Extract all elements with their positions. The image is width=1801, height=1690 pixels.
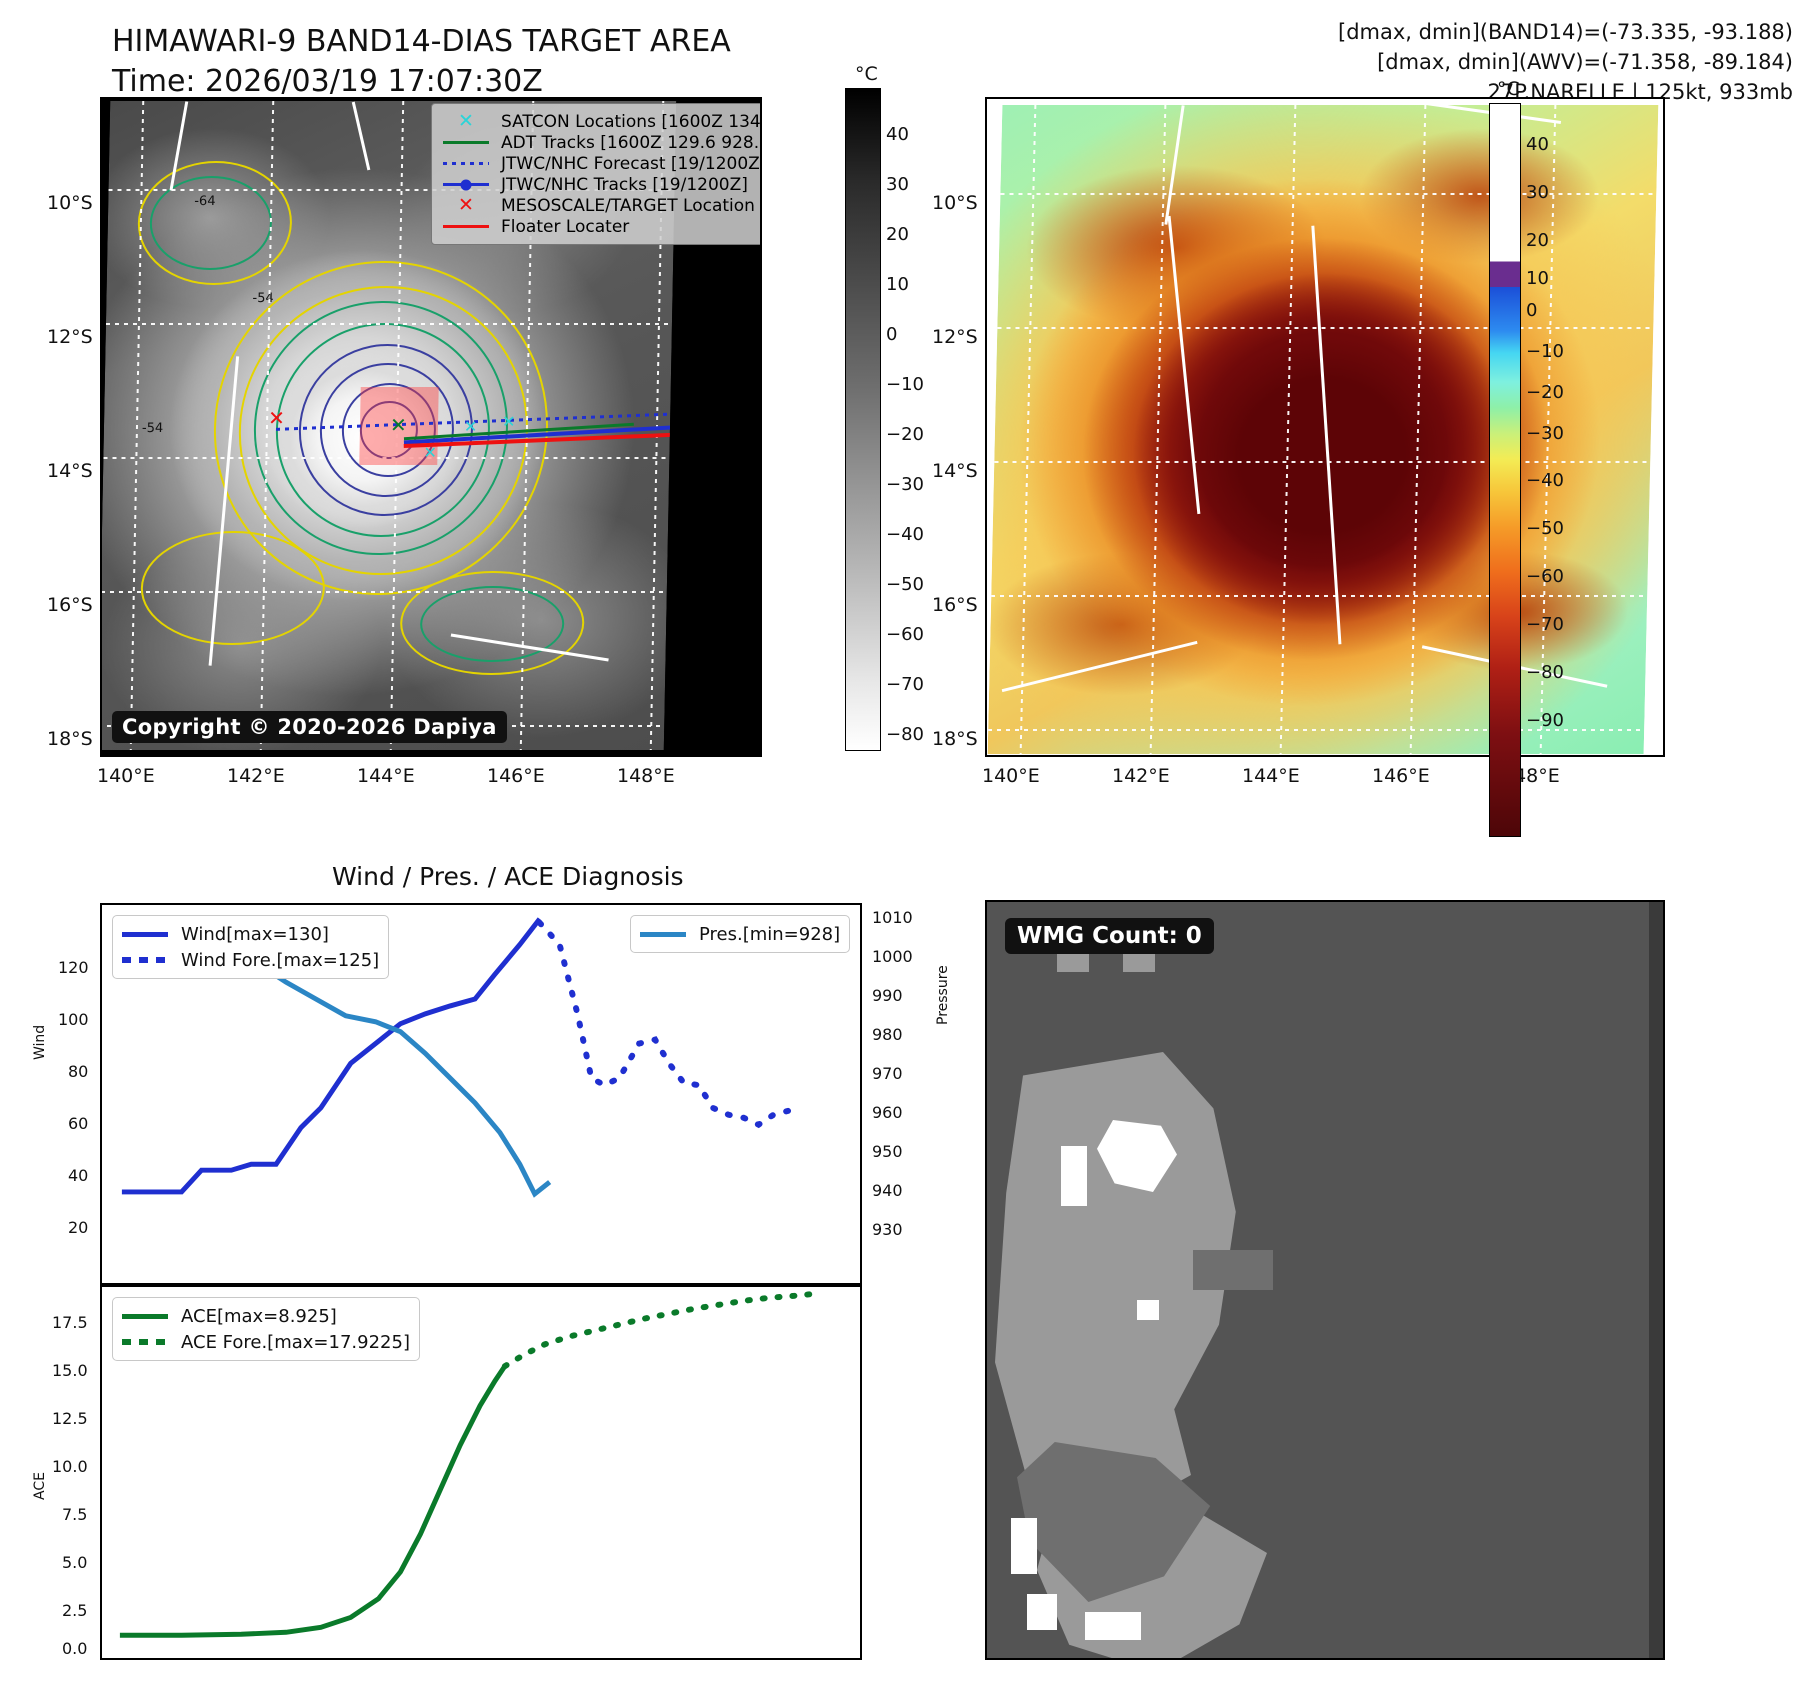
satcon-marker[interactable]: ✕ (423, 445, 437, 461)
ace-tick-0-0: 0.0 (62, 1639, 87, 1658)
mesoscale-x-icon: ✕ (439, 196, 493, 215)
xtick-left-148E: 148°E (617, 765, 675, 787)
jtwc-track-marker-icon (439, 183, 493, 186)
legend-row-pressure: Pres.[min=928] (640, 921, 840, 947)
colorbar-left-tick--70: −70 (886, 674, 924, 695)
jtwc-forecast-dotted-icon (439, 162, 493, 165)
copyright-badge: Copyright © 2020-2026 Dapiya (112, 711, 507, 743)
contour-label-1: -64 (194, 194, 216, 209)
wind-tick-60: 60 (68, 1114, 88, 1133)
colorbar-right-tick--20: −20 (1526, 382, 1564, 403)
ytick-left-12S: 12°S (47, 326, 93, 348)
wmg-count-badge: WMG Count: 0 (1005, 918, 1214, 954)
pressure-axis-title: Pressure (935, 965, 951, 1025)
satellite-image-band14: -64 -54 -54 (102, 99, 760, 755)
legend-row-wind: Wind[max=130] (122, 921, 379, 947)
colorbar-left-tick--50: −50 (886, 574, 924, 595)
wmg-panel[interactable]: WMG Count: 0 (985, 900, 1665, 1660)
header-metadata: [dmax, dmin](BAND14)=(-73.335, -93.188) … (1338, 18, 1793, 107)
dmax-dmin-awv: [dmax, dmin](AWV)=(-71.358, -89.184) (1338, 48, 1793, 78)
ytick-right-18S: 18°S (932, 728, 978, 750)
wmg-region-bright (1137, 1300, 1159, 1320)
dmax-dmin-band14: [dmax, dmin](BAND14)=(-73.335, -93.188) (1338, 18, 1793, 48)
colorbar-left-tick--80: −80 (886, 724, 924, 745)
gridline-lat-12S (106, 323, 672, 325)
wmg-region-bright (1085, 1612, 1141, 1640)
colorbar-left-tick--20: −20 (886, 424, 924, 445)
colorbar-right-tick--90: −90 (1526, 710, 1564, 731)
xtick-left-142E: 142°E (227, 765, 285, 787)
wind-forecast-dotted-icon (122, 957, 172, 963)
ytick-left-10S: 10°S (47, 192, 93, 214)
xtick-left-144E: 144°E (357, 765, 415, 787)
colorbar-unit-left: °C (855, 63, 878, 85)
wmg-region-bright (1061, 1146, 1087, 1206)
colorbar-right-tick-20: 20 (1526, 230, 1549, 251)
colorbar-unit-right: °C (1497, 78, 1520, 100)
legend-row-mesoscale: ✕ MESOSCALE/TARGET Location (439, 195, 762, 216)
pressure-tick-1010: 1010 (872, 908, 913, 927)
colorbar-right (1489, 103, 1521, 837)
ytick-left-14S: 14°S (47, 460, 93, 482)
ace-tick-10-0: 10.0 (52, 1457, 88, 1476)
title-line-2: Time: 2026/03/19 17:07:30Z (112, 62, 731, 102)
wind-tick-40: 40 (68, 1166, 88, 1185)
wind-forecast-line (540, 923, 789, 1125)
legend-row-ace: ACE[max=8.925] (122, 1303, 410, 1329)
legend-label-jtwc-forecast: JTWC/NHC Forecast [19/1200Z] (501, 154, 762, 174)
ace-line-icon (122, 1314, 172, 1319)
ace-tick-2-5: 2.5 (62, 1601, 87, 1620)
adt-line-icon (439, 141, 493, 144)
colorbar-right-tick--70: −70 (1526, 614, 1564, 635)
satellite-panel-band14[interactable]: -64 -54 -54 (100, 97, 762, 757)
ytick-right-14S: 14°S (932, 460, 978, 482)
ace-axis-title: ACE (32, 1472, 48, 1500)
adt-marker[interactable]: ✕ (390, 415, 407, 435)
colorbar-left-tick-10: 10 (886, 274, 909, 295)
legend-label-mesoscale: MESOSCALE/TARGET Location (501, 196, 755, 216)
satcon-x-icon: ✕ (439, 112, 493, 131)
ytick-left-18S: 18°S (47, 728, 93, 750)
colorbar-left-tick-40: 40 (886, 124, 909, 145)
gridline-lat-14S (994, 461, 1650, 463)
xtick-right-146E: 146°E (1372, 765, 1430, 787)
colorbar-right-tick--30: −30 (1526, 423, 1564, 444)
page-title: HIMAWARI-9 BAND14-DIAS TARGET AREA Time:… (112, 22, 731, 101)
legend-row-wind-forecast: Wind Fore.[max=125] (122, 947, 379, 973)
legend-label-pressure: Pres.[min=928] (699, 924, 840, 945)
ace-tick-12-5: 12.5 (52, 1409, 88, 1428)
pressure-line-icon (640, 932, 690, 937)
colorbar-left (845, 88, 881, 751)
pressure-tick-970: 970 (872, 1064, 903, 1083)
pressure-tick-930: 930 (872, 1220, 903, 1239)
legend-label-wind-forecast: Wind Fore.[max=125] (181, 950, 379, 971)
gridline-lat-10S (1000, 193, 1656, 195)
mesoscale-target-marker[interactable]: ✕ (268, 408, 285, 428)
colorbar-right-tick--50: −50 (1526, 518, 1564, 539)
ytick-right-10S: 10°S (932, 192, 978, 214)
contour-label-3: -54 (142, 421, 164, 436)
legend-label-wind: Wind[max=130] (181, 924, 329, 945)
wind-legend[interactable]: Wind[max=130] Wind Fore.[max=125] (112, 915, 389, 979)
legend-label-adt: ADT Tracks [1600Z 129.6 928.6] (501, 133, 762, 153)
xtick-right-144E: 144°E (1242, 765, 1300, 787)
xtick-left-140E: 140°E (97, 765, 155, 787)
wind-line-icon (122, 932, 172, 937)
ace-tick-7-5: 7.5 (62, 1505, 87, 1524)
colorbar-left-tick--40: −40 (886, 524, 924, 545)
colorbar-left-tick--10: −10 (886, 374, 924, 395)
pressure-tick-990: 990 (872, 986, 903, 1005)
pressure-tick-1000: 1000 (872, 947, 913, 966)
colorbar-right-tick--40: −40 (1526, 470, 1564, 491)
colorbar-right-tick-10: 10 (1526, 268, 1549, 289)
legend-row-satcon: ✕ SATCON Locations [1600Z 134 927] (439, 111, 762, 132)
colorbar-left-tick--30: −30 (886, 474, 924, 495)
colorbar-right-tick--10: −10 (1526, 341, 1564, 362)
colorbar-right-tick-40: 40 (1526, 134, 1549, 155)
gridline-lat-16S (101, 591, 667, 593)
wind-tick-100: 100 (58, 1010, 89, 1029)
wmg-image: WMG Count: 0 (987, 902, 1663, 1658)
colorbar-left-tick--60: −60 (886, 624, 924, 645)
xtick-right-140E: 140°E (982, 765, 1040, 787)
colorbar-right-tick-30: 30 (1526, 182, 1549, 203)
ytick-left-16S: 16°S (47, 594, 93, 616)
legend-label-floater: Floater Locater (501, 217, 629, 237)
colorbar-left-tick-30: 30 (886, 174, 909, 195)
pressure-tick-980: 980 (872, 1025, 903, 1044)
gridline-lat-12S (997, 327, 1653, 329)
legend-row-floater: Floater Locater (439, 216, 762, 237)
contour-label-2: -54 (252, 291, 274, 306)
legend-label-satcon: SATCON Locations [1600Z 134 927] (501, 112, 762, 132)
legend-label-ace-forecast: ACE Fore.[max=17.9225] (181, 1332, 410, 1353)
ace-tick-5-0: 5.0 (62, 1553, 87, 1572)
floater-line-icon (439, 225, 493, 228)
wind-tick-80: 80 (68, 1062, 88, 1081)
diagnosis-title: Wind / Pres. / ACE Diagnosis (332, 862, 684, 891)
title-line-1: HIMAWARI-9 BAND14-DIAS TARGET AREA (112, 22, 731, 62)
wind-axis-title: Wind (32, 1025, 48, 1060)
ace-tick-17-5: 17.5 (52, 1313, 88, 1332)
wind-tick-20: 20 (68, 1218, 88, 1237)
legend-row-ace-forecast: ACE Fore.[max=17.9225] (122, 1329, 410, 1355)
colorbar-left-tick-0: 0 (886, 324, 897, 345)
pressure-tick-950: 950 (872, 1142, 903, 1161)
ace-observed-line (120, 1366, 505, 1635)
ytick-right-16S: 16°S (932, 594, 978, 616)
ytick-right-12S: 12°S (932, 326, 978, 348)
colorbar-right-tick-0: 0 (1526, 300, 1537, 321)
pressure-tick-940: 940 (872, 1181, 903, 1200)
wmg-region-bright (1011, 1518, 1037, 1574)
map-legend[interactable]: ✕ SATCON Locations [1600Z 134 927] ADT T… (431, 103, 762, 245)
legend-label-ace: ACE[max=8.925] (181, 1306, 337, 1327)
wmg-region-bright (1027, 1594, 1057, 1630)
colorbar-left-tick-20: 20 (886, 224, 909, 245)
pressure-legend[interactable]: Pres.[min=928] (630, 915, 850, 953)
ace-tick-15-0: 15.0 (52, 1361, 88, 1380)
colorbar-right-tick--60: −60 (1526, 566, 1564, 587)
xtick-left-146E: 146°E (487, 765, 545, 787)
colorbar-right-tick--80: −80 (1526, 662, 1564, 683)
pressure-tick-960: 960 (872, 1103, 903, 1122)
legend-row-jtwc-forecast: JTWC/NHC Forecast [19/1200Z] (439, 153, 762, 174)
gridline-lat-16S (991, 595, 1647, 597)
satcon-marker[interactable]: ✕ (464, 419, 478, 435)
xtick-right-142E: 142°E (1112, 765, 1170, 787)
legend-label-jtwc-tracks: JTWC/NHC Tracks [19/1200Z] (501, 175, 748, 195)
wmg-region-dark (1193, 1250, 1273, 1290)
ace-forecast-line (505, 1294, 813, 1366)
ace-legend[interactable]: ACE[max=8.925] ACE Fore.[max=17.9225] (112, 1297, 420, 1361)
satcon-marker[interactable]: ✕ (502, 414, 516, 430)
wind-tick-120: 120 (58, 958, 89, 977)
wmg-edge-strip (1649, 902, 1663, 1658)
legend-row-adt: ADT Tracks [1600Z 129.6 928.6] (439, 132, 762, 153)
ace-forecast-dotted-icon (122, 1339, 172, 1345)
legend-row-jtwc-tracks: JTWC/NHC Tracks [19/1200Z] (439, 174, 762, 195)
